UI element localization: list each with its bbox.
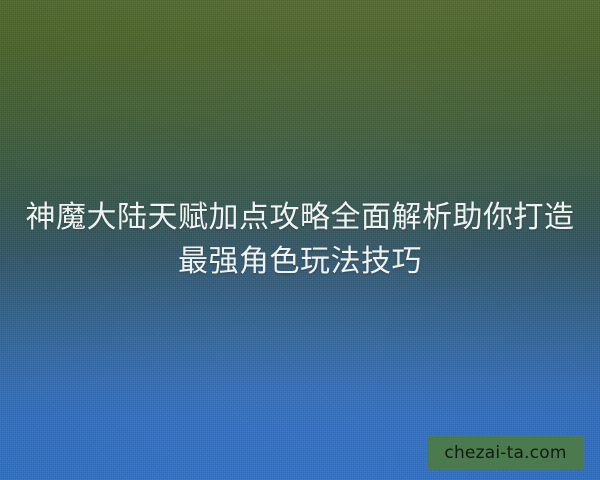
watermark-badge: chezai-ta.com	[427, 436, 584, 470]
watermark-label: chezai-ta.com	[444, 443, 566, 463]
title-line-1: 神魔大陆天赋加点攻略全面解析助你打造	[18, 196, 582, 240]
title-line-2: 最强角色玩法技巧	[18, 240, 582, 284]
page-title: 神魔大陆天赋加点攻略全面解析助你打造 最强角色玩法技巧	[0, 196, 600, 284]
cover-card: 神魔大陆天赋加点攻略全面解析助你打造 最强角色玩法技巧 chezai-ta.co…	[0, 0, 600, 480]
